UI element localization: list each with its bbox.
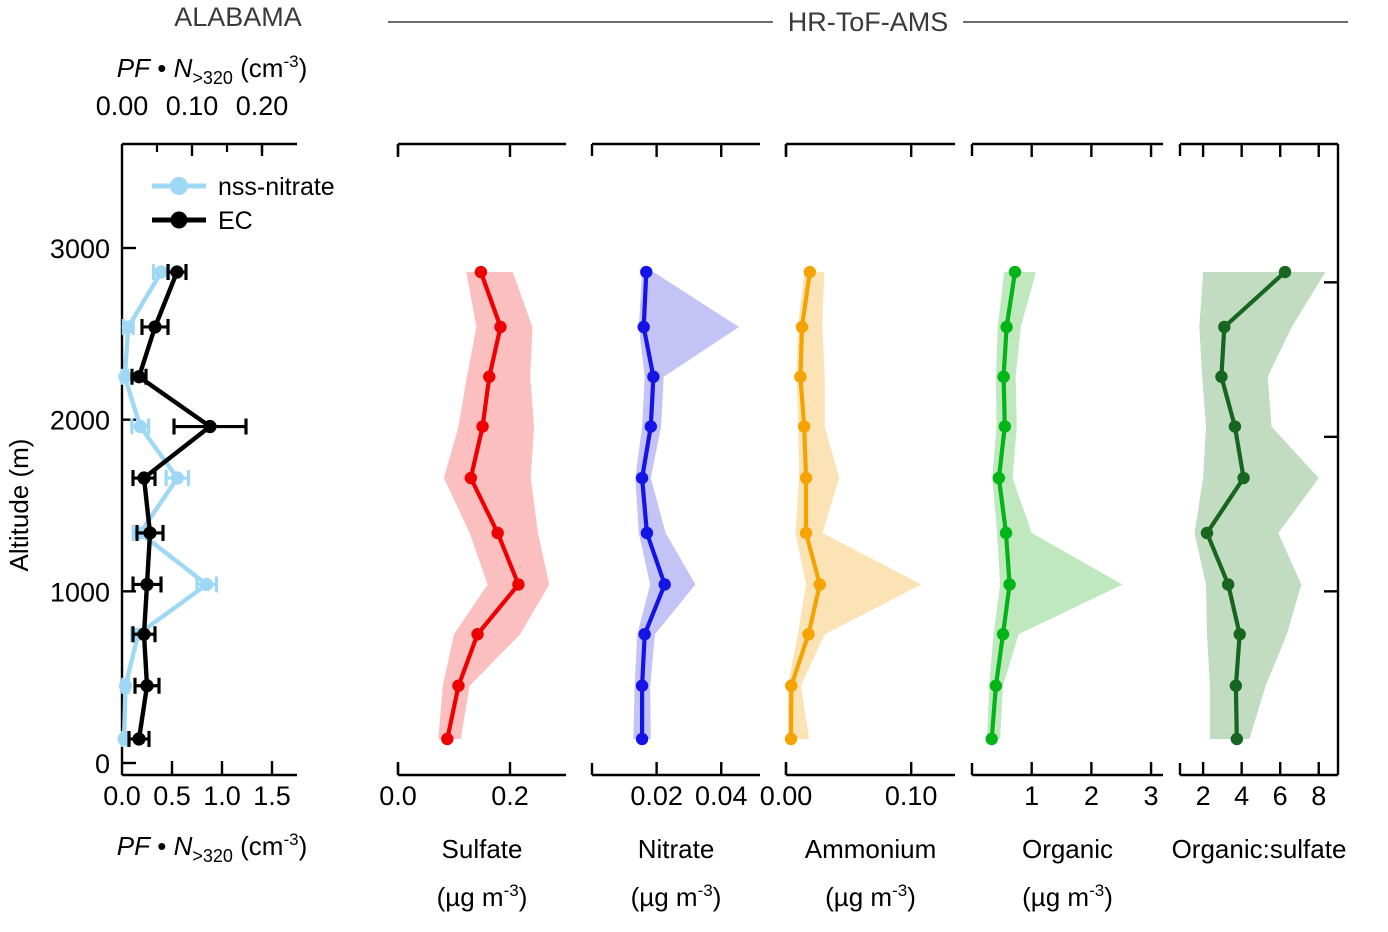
alabama-ec-data-point <box>143 526 156 539</box>
organic-tick-label: 1 <box>1024 781 1039 811</box>
nitrate-data-point <box>640 266 652 278</box>
organic-sulfate-tick-label: 2 <box>1196 781 1211 811</box>
legend-label-0: nss-nitrate <box>218 173 335 201</box>
alabama-ec-data-point <box>132 370 145 383</box>
sulfate-axis-unit: (µg m-3) <box>437 881 528 912</box>
altitude-tick-label: 3000 <box>50 234 110 264</box>
ammonium-tick-label: 0.10 <box>885 781 938 811</box>
nitrate-axis-title: Nitrate <box>638 834 715 864</box>
organic-sulfate-axis-title: Organic:sulfate <box>1172 834 1347 864</box>
organic-sulfate-data-point <box>1237 472 1249 484</box>
sulfate-data-point <box>512 578 524 590</box>
organic-sulfate-tick-label: 4 <box>1234 781 1249 811</box>
alabama-top-axis-label: PF • N>320 (cm-3) <box>117 52 307 88</box>
nitrate-data-point <box>636 472 648 484</box>
alabama-bottom-tick-label: 0.0 <box>103 781 141 811</box>
altitude-tick-label: 2000 <box>50 406 110 436</box>
nitrate-tick-label: 0.02 <box>630 781 683 811</box>
alabama-bottom-tick-label: 1.5 <box>253 781 291 811</box>
organic-data-point <box>997 628 1009 640</box>
sulfate-uncertainty-band <box>438 272 549 739</box>
organic-sulfate-data-point <box>1229 420 1241 432</box>
organic-data-point <box>999 420 1011 432</box>
organic-sulfate-data-point <box>1230 680 1242 692</box>
nitrate-data-point <box>645 420 657 432</box>
nitrate-uncertainty-band <box>633 272 739 739</box>
ammonium-axis-unit: (µg m-3) <box>825 881 916 912</box>
altitude-tick-label: 1000 <box>50 577 110 607</box>
nitrate-data-point <box>638 628 650 640</box>
alabama-bottom-tick-label: 1.0 <box>203 781 241 811</box>
alabama-bottom-axis-label: PF • N>320 (cm-3) <box>117 830 307 866</box>
organic-data-point <box>1009 266 1021 278</box>
ammonium-data-point <box>814 578 826 590</box>
sulfate-data-point <box>491 527 503 539</box>
figure-root: ALABAMAHR-ToF-AMSPF • N>320 (cm-3)0.000.… <box>0 0 1388 932</box>
nitrate-axis-unit: (µg m-3) <box>631 881 722 912</box>
organic-data-point <box>1003 578 1015 590</box>
alabama-nss-nitrate-data-point <box>200 578 213 591</box>
figure-canvas: ALABAMAHR-ToF-AMSPF • N>320 (cm-3)0.000.… <box>0 0 1388 932</box>
alabama-nss-nitrate-data-point <box>155 265 168 278</box>
alabama-ec-data-point <box>140 679 153 692</box>
alabama-nss-nitrate-data-point <box>171 471 184 484</box>
sulfate-data-point <box>471 628 483 640</box>
nitrate-data-point <box>637 321 649 333</box>
ammonium-data-point <box>802 628 814 640</box>
sulfate-tick-label: 0.2 <box>491 781 529 811</box>
alabama-ec-data-point <box>137 471 150 484</box>
legend-marker-1 <box>171 212 188 229</box>
nitrate-data-point <box>641 527 653 539</box>
ammonium-data-point <box>785 680 797 692</box>
ammonium-data-point <box>785 733 797 745</box>
organic-sulfate-data-point <box>1234 628 1246 640</box>
organic-axis-unit: (µg m-3) <box>1022 881 1113 912</box>
alabama-nss-nitrate-profile-line <box>124 272 207 739</box>
alabama-ec-data-point <box>140 578 153 591</box>
ammonium-data-point <box>800 472 812 484</box>
sulfate-data-point <box>441 733 453 745</box>
legend-label-1: EC <box>218 207 253 235</box>
ammonium-data-point <box>796 321 808 333</box>
organic-tick-label: 2 <box>1084 781 1099 811</box>
sulfate-axis-title: Sulfate <box>442 834 523 864</box>
organic-sulfate-tick-label: 6 <box>1273 781 1288 811</box>
organic-sulfate-uncertainty-band <box>1195 272 1326 739</box>
organic-data-point <box>997 371 1009 383</box>
nitrate-tick-label: 0.04 <box>695 781 748 811</box>
sulfate-tick-label: 0.0 <box>379 781 417 811</box>
sulfate-data-point <box>494 321 506 333</box>
organic-sulfate-tick-label: 8 <box>1311 781 1326 811</box>
alabama-bottom-tick-label: 0.5 <box>153 781 191 811</box>
nitrate-data-point <box>647 371 659 383</box>
organic-axis-title: Organic <box>1022 834 1113 864</box>
sulfate-data-point <box>452 680 464 692</box>
ammonium-data-point <box>794 371 806 383</box>
organic-sulfate-data-point <box>1279 266 1291 278</box>
nitrate-data-point <box>636 680 648 692</box>
alabama-ec-data-point <box>132 732 145 745</box>
organic-sulfate-data-point <box>1201 527 1213 539</box>
alabama-ec-profile-line <box>139 272 210 739</box>
alabama-top-tick-label: 0.10 <box>166 91 219 121</box>
header-right-title: HR-ToF-AMS <box>788 7 949 37</box>
alabama-nss-nitrate-data-point <box>122 320 135 333</box>
nitrate-data-point <box>658 578 670 590</box>
header-left-title: ALABAMA <box>174 2 302 32</box>
organic-data-point <box>985 733 997 745</box>
ammonium-data-point <box>800 527 812 539</box>
y-axis-label: Altitude (m) <box>4 439 34 572</box>
organic-tick-label: 3 <box>1144 781 1159 811</box>
altitude-tick-label: 0 <box>95 749 110 779</box>
alabama-ec-data-point <box>148 320 161 333</box>
ammonium-data-point <box>798 420 810 432</box>
ammonium-tick-label: 0.00 <box>760 781 813 811</box>
organic-data-point <box>993 472 1005 484</box>
nitrate-data-point <box>636 733 648 745</box>
organic-sulfate-data-point <box>1222 578 1234 590</box>
ammonium-data-point <box>804 266 816 278</box>
alabama-nss-nitrate-data-point <box>118 370 131 383</box>
organic-data-point <box>990 680 1002 692</box>
sulfate-data-point <box>475 266 487 278</box>
organic-data-point <box>1000 527 1012 539</box>
alabama-nss-nitrate-data-point <box>119 679 132 692</box>
alabama-ec-data-point <box>203 420 216 433</box>
sulfate-data-point <box>465 472 477 484</box>
alabama-top-tick-label: 0.20 <box>236 91 289 121</box>
organic-data-point <box>1000 321 1012 333</box>
alabama-top-tick-label: 0.00 <box>96 91 149 121</box>
legend-marker-0 <box>170 177 188 195</box>
alabama-ec-data-point <box>170 265 183 278</box>
sulfate-data-point <box>476 420 488 432</box>
ammonium-axis-title: Ammonium <box>805 834 936 864</box>
alabama-ec-data-point <box>137 628 150 641</box>
organic-sulfate-data-point <box>1215 371 1227 383</box>
sulfate-data-point <box>483 371 495 383</box>
organic-sulfate-data-point <box>1218 321 1230 333</box>
organic-sulfate-data-point <box>1231 733 1243 745</box>
alabama-nss-nitrate-data-point <box>134 420 147 433</box>
